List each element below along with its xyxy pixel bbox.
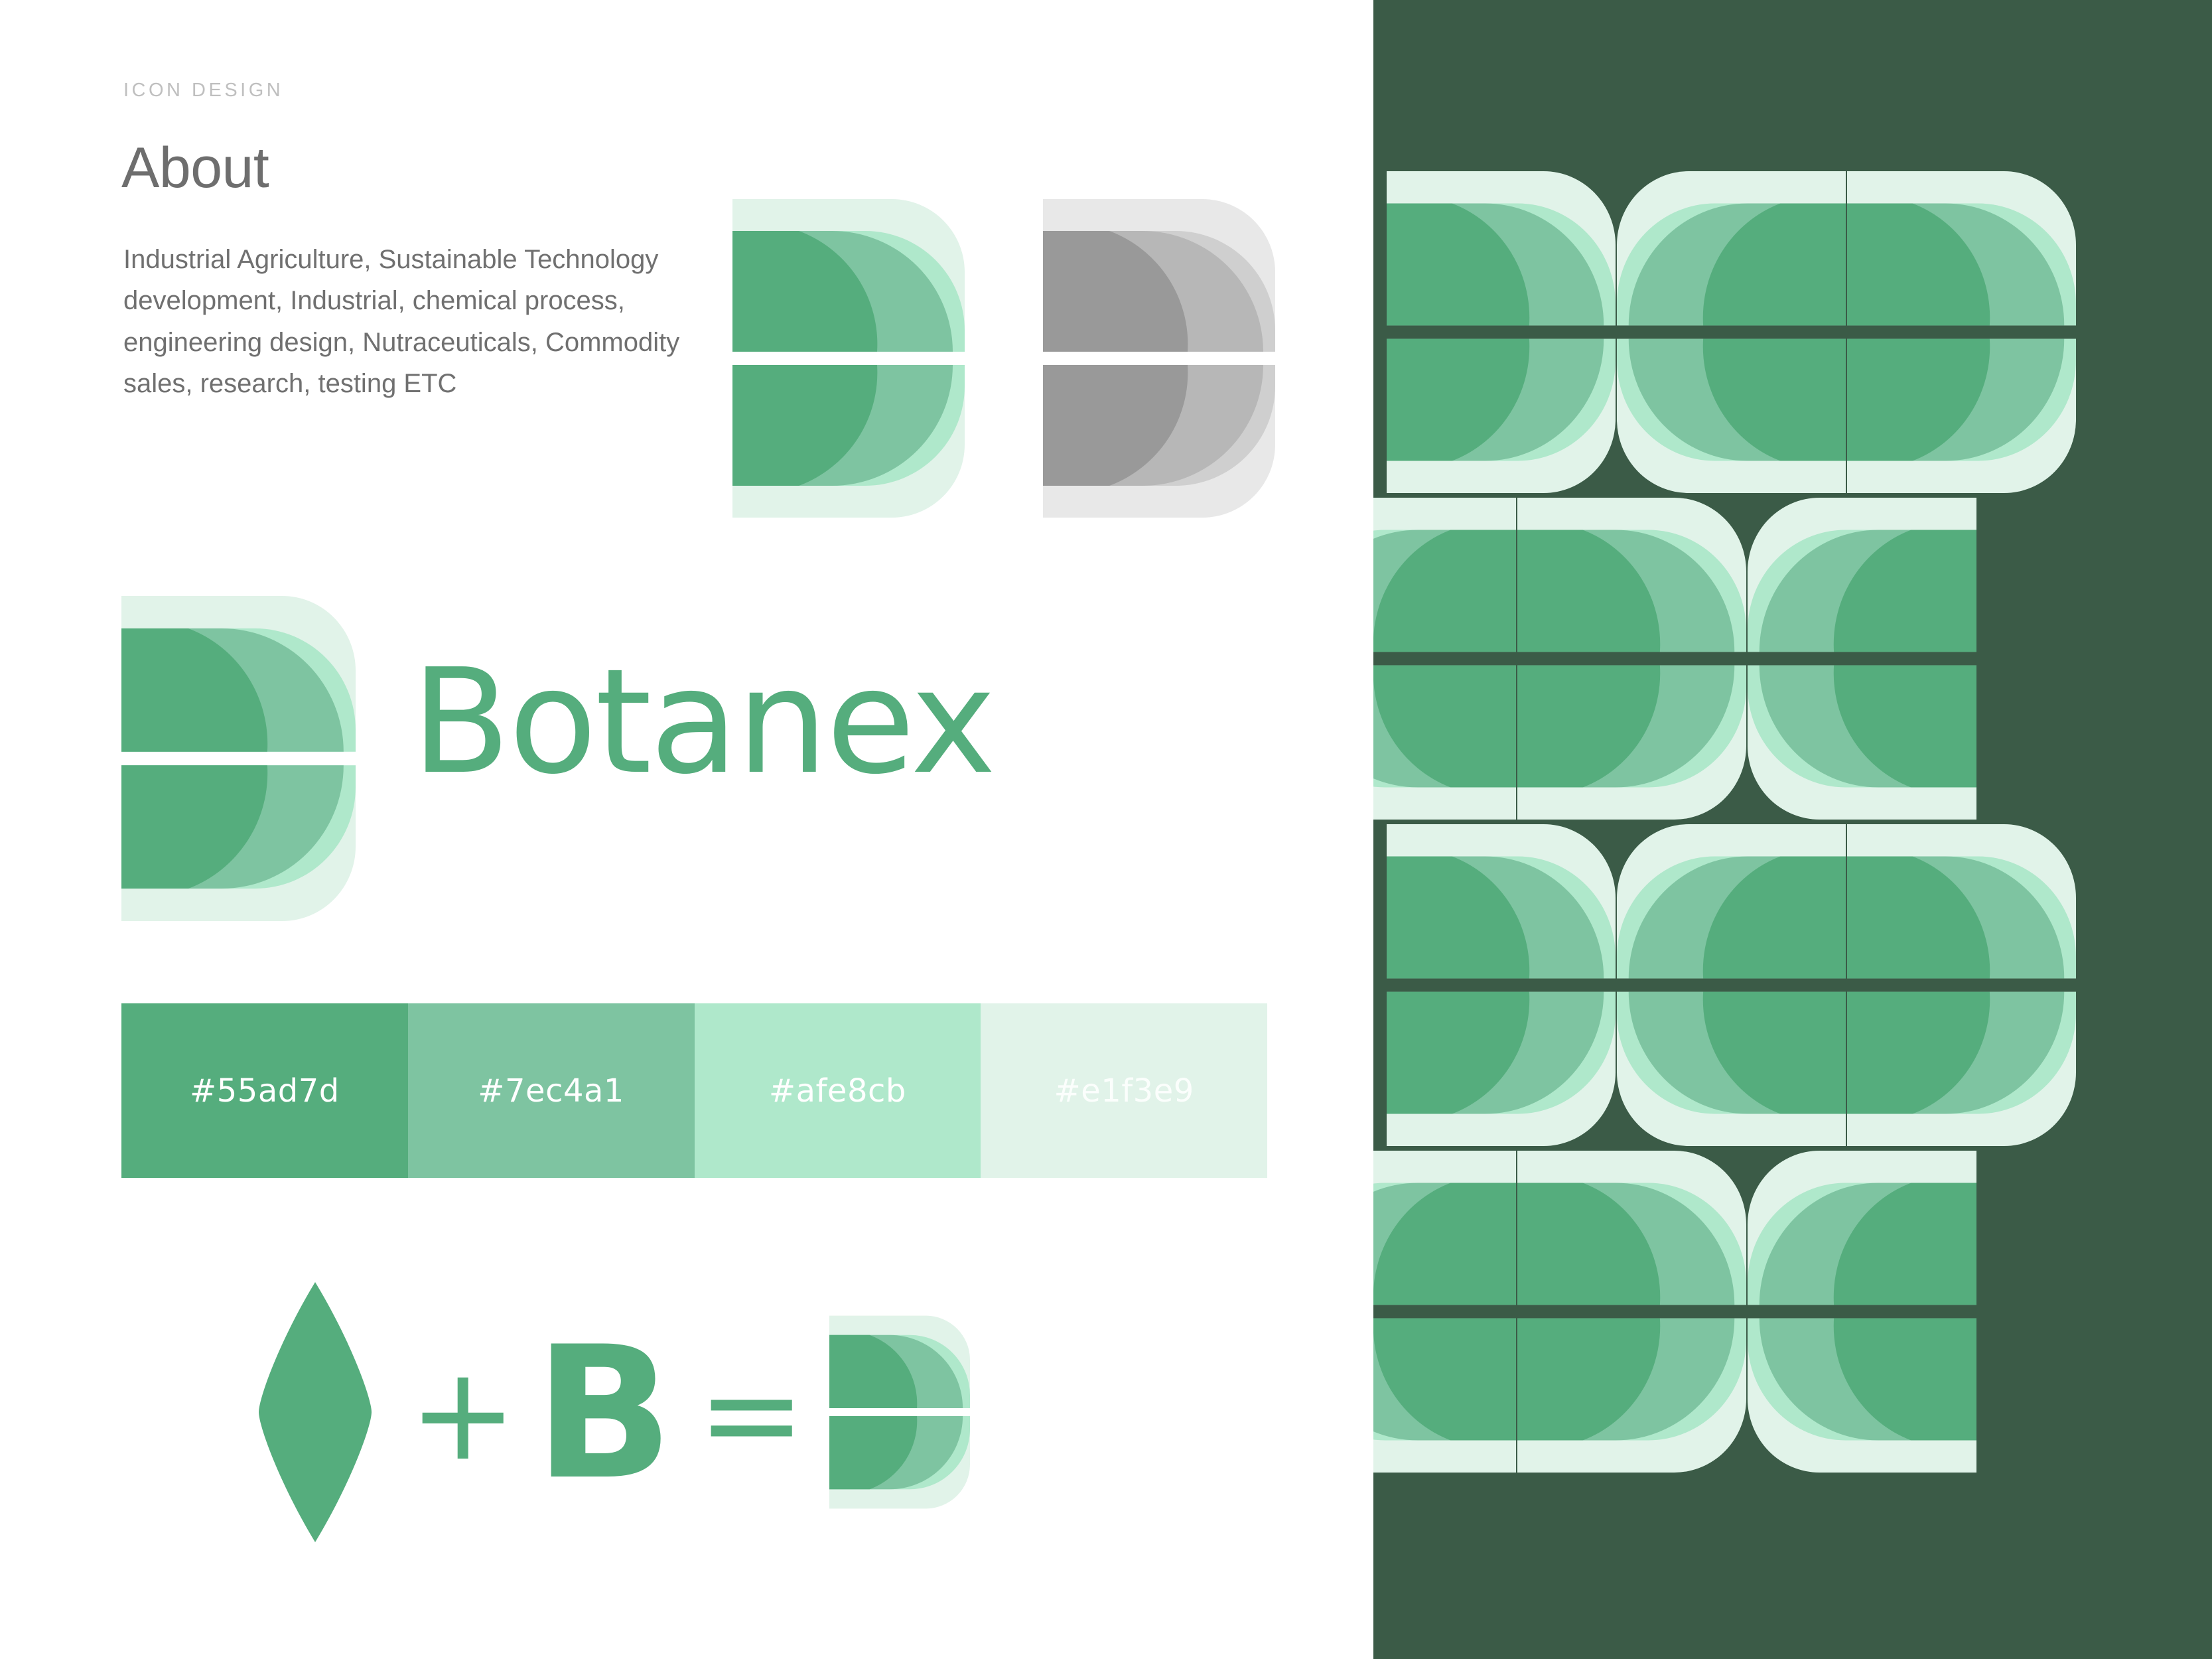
color-swatch[interactable]: #7ec4a1 bbox=[408, 1003, 695, 1178]
mark-bottom-half bbox=[732, 365, 965, 518]
mark-bottom-half bbox=[829, 1416, 970, 1508]
color-swatch-label: #7ec4a1 bbox=[478, 1072, 624, 1110]
color-swatch[interactable]: #e1f3e9 bbox=[981, 1003, 1267, 1178]
left-content-panel: ICON DESIGN About Industrial Agriculture… bbox=[0, 0, 1373, 1659]
mark-top-half bbox=[121, 596, 356, 752]
about-description: Industrial Agriculture, Sustainable Tech… bbox=[123, 239, 707, 405]
mark-construction-formula: + B = bbox=[252, 1281, 970, 1546]
plus-sign: + bbox=[409, 1349, 517, 1479]
mark-bottom-half bbox=[121, 765, 356, 921]
mark-top-half bbox=[829, 1315, 970, 1407]
logo-mark-color bbox=[732, 199, 965, 518]
color-swatch[interactable]: #afe8cb bbox=[695, 1003, 981, 1178]
color-swatch[interactable]: #55ad7d bbox=[121, 1003, 408, 1178]
letter-b: B bbox=[534, 1323, 671, 1505]
color-swatch-label: #e1f3e9 bbox=[1054, 1072, 1194, 1110]
color-swatch-label: #55ad7d bbox=[190, 1072, 340, 1110]
eyebrow-label: ICON DESIGN bbox=[123, 80, 283, 102]
mark-top-half bbox=[1043, 199, 1275, 352]
leaf-icon bbox=[252, 1279, 378, 1548]
equals-sign: = bbox=[697, 1349, 805, 1479]
page-title: About bbox=[121, 139, 269, 196]
brand-wordmark: Botanex bbox=[411, 650, 994, 795]
pattern-panel bbox=[1373, 0, 2212, 1659]
color-swatch-label: #afe8cb bbox=[769, 1072, 906, 1110]
logo-mark-result bbox=[829, 1315, 970, 1512]
color-palette-strip: #55ad7d #7ec4a1 #afe8cb #e1f3e9 bbox=[121, 1003, 1267, 1178]
brand-presentation-board: ICON DESIGN About Industrial Agriculture… bbox=[0, 0, 2212, 1659]
logo-mark-grayscale bbox=[1043, 199, 1275, 518]
mark-top-half bbox=[732, 199, 965, 352]
logo-lockup-mark bbox=[121, 596, 356, 921]
mark-bottom-half bbox=[1043, 365, 1275, 518]
